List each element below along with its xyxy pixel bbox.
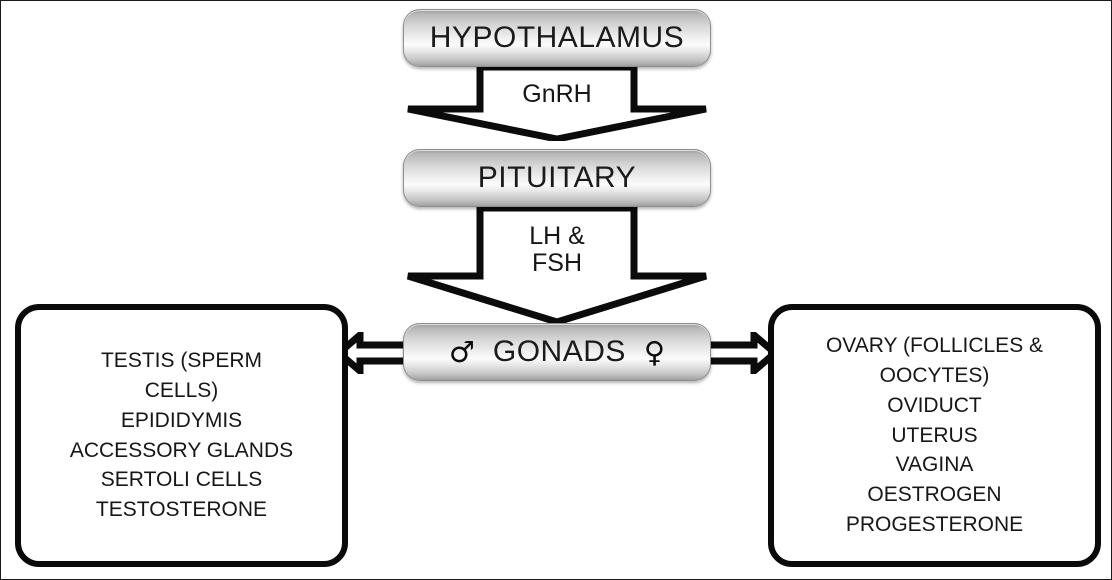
- list-item: OVARY (FOLLICLES &: [826, 331, 1043, 361]
- list-item: PROGESTERONE: [826, 510, 1043, 540]
- hypothalamus-label: HYPOTHALAMUS: [430, 21, 684, 55]
- male-reproductive-panel[interactable]: TESTIS (SPERM CELLS) EPIDIDYMIS ACCESSOR…: [15, 304, 348, 567]
- female-organ-list: OVARY (FOLLICLES & OOCYTES) OVIDUCT UTER…: [816, 331, 1053, 540]
- node-gonads[interactable]: ♂ GONADS ♀: [403, 323, 711, 381]
- diagram-canvas: HYPOTHALAMUS GnRH PITUITARY LH & FSH: [0, 0, 1112, 580]
- female-reproductive-panel[interactable]: OVARY (FOLLICLES & OOCYTES) OVIDUCT UTER…: [768, 304, 1101, 567]
- list-item: EPIDIDYMIS: [70, 406, 293, 436]
- node-hypothalamus[interactable]: HYPOTHALAMUS: [403, 9, 711, 67]
- gnrh-arrow: [406, 65, 708, 141]
- list-item: ACCESSORY GLANDS: [70, 436, 293, 466]
- gonads-row: ♂ GONADS ♀: [404, 335, 710, 369]
- list-item: SERTOLI CELLS: [70, 465, 293, 495]
- gonads-label: GONADS: [493, 335, 626, 369]
- node-pituitary[interactable]: PITUITARY: [403, 149, 711, 207]
- list-item: UTERUS: [826, 421, 1043, 451]
- list-item: OESTROGEN: [826, 480, 1043, 510]
- list-item: TESTIS (SPERM: [70, 346, 293, 376]
- male-sex-symbol-icon: ♂: [449, 338, 475, 367]
- list-item: OVIDUCT: [826, 391, 1043, 421]
- lh-fsh-arrow: [406, 206, 708, 324]
- female-sex-symbol-icon: ♀: [644, 338, 665, 367]
- gonads-to-female-arrow: [702, 332, 778, 374]
- male-organ-list: TESTIS (SPERM CELLS) EPIDIDYMIS ACCESSOR…: [60, 346, 303, 525]
- list-item: TESTOSTERONE: [70, 495, 293, 525]
- pituitary-label: PITUITARY: [478, 161, 636, 195]
- list-item: CELLS): [70, 376, 293, 406]
- list-item: OOCYTES): [826, 361, 1043, 391]
- list-item: VAGINA: [826, 450, 1043, 480]
